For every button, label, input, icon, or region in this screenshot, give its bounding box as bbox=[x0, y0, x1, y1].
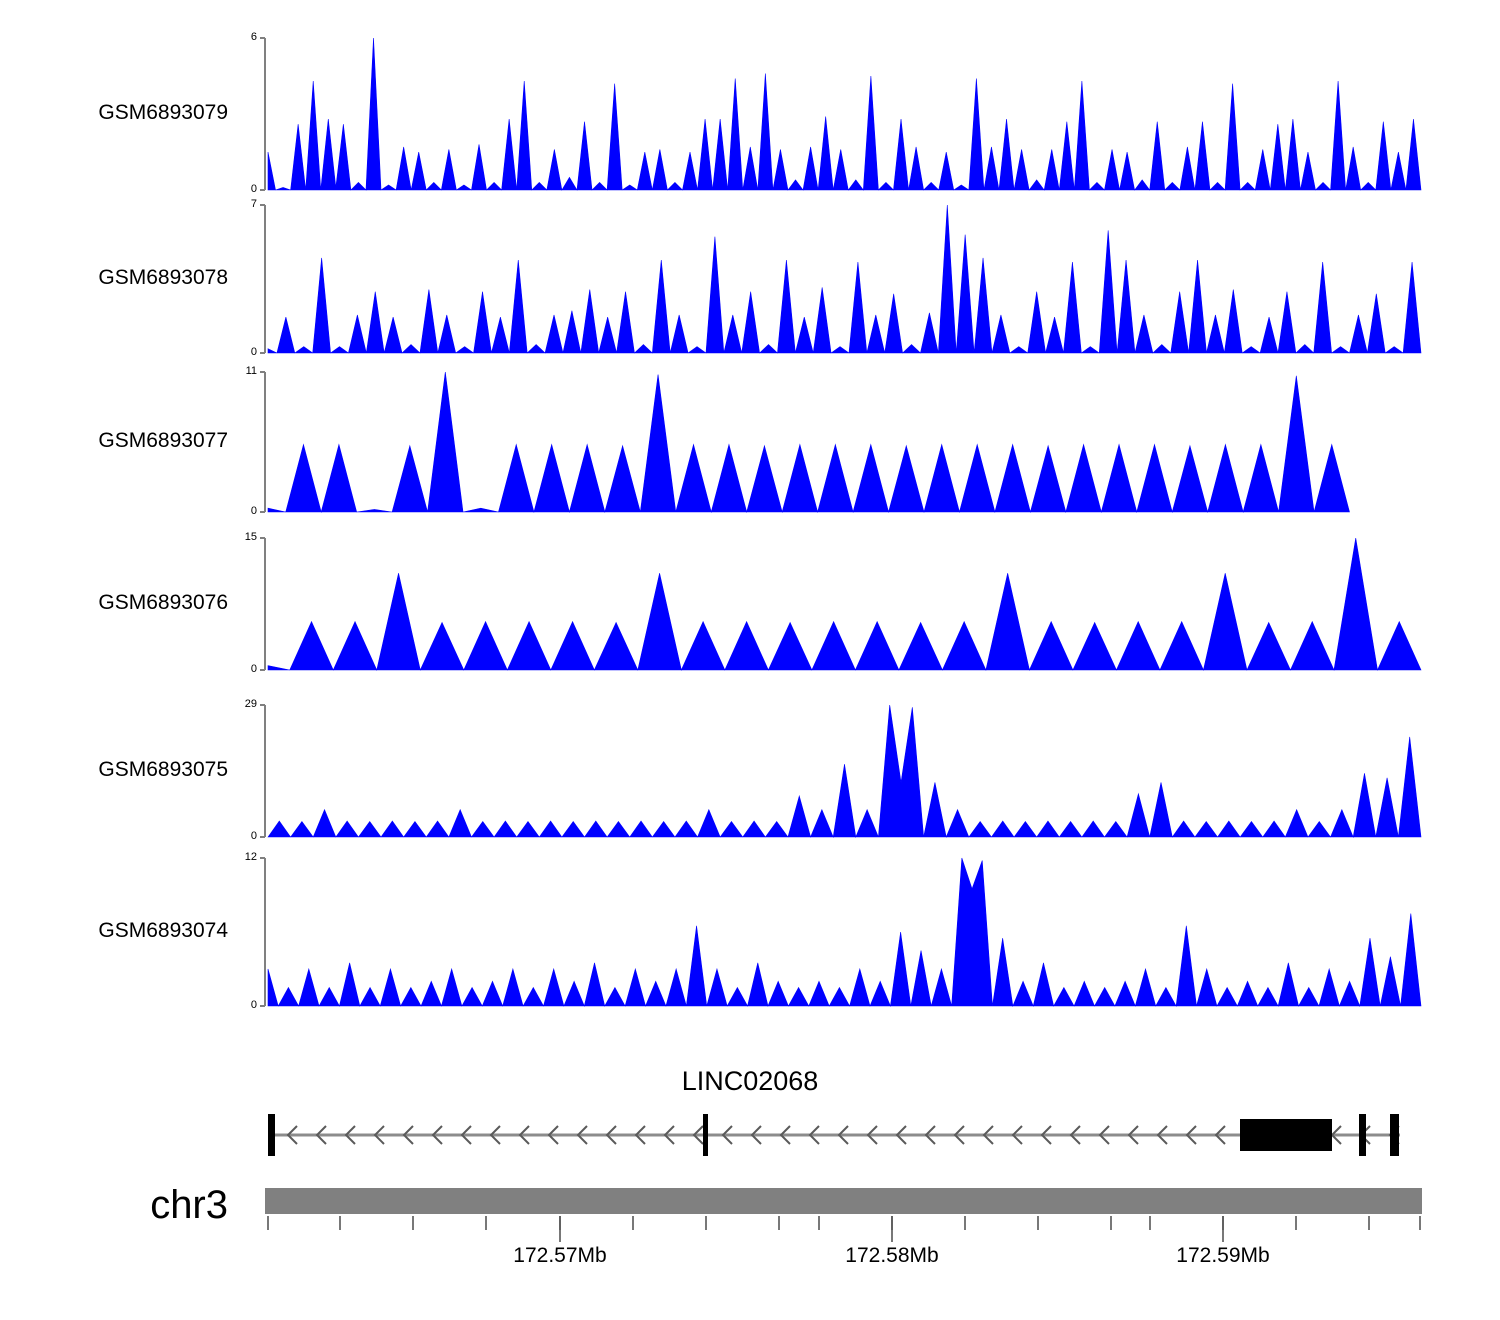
track-sample-label: GSM6893078 bbox=[0, 267, 228, 288]
coverage-area bbox=[268, 38, 1421, 190]
gene-exon-exon-thin-2[interactable] bbox=[1390, 1114, 1399, 1156]
y-axis-min-label: 0 bbox=[225, 184, 257, 195]
y-axis-max-label: 7 bbox=[225, 199, 257, 210]
coverage-area bbox=[268, 705, 1421, 837]
track-sample-label: GSM6893074 bbox=[0, 920, 228, 941]
axis-tick-label: 172.59Mb bbox=[1176, 1245, 1269, 1266]
y-axis-max-label: 15 bbox=[225, 532, 257, 543]
coverage-area bbox=[268, 538, 1421, 670]
axis-tick-label: 172.57Mb bbox=[513, 1245, 606, 1266]
y-axis-max-label: 12 bbox=[225, 852, 257, 863]
y-axis-max-label: 11 bbox=[225, 366, 257, 377]
ideogram-bar[interactable] bbox=[265, 1188, 1422, 1214]
coverage-area bbox=[268, 205, 1421, 353]
gene-model-svg[interactable] bbox=[0, 1100, 1500, 1180]
coverage-area bbox=[268, 372, 1350, 512]
y-axis-min-label: 0 bbox=[225, 664, 257, 675]
y-axis-min-label: 0 bbox=[225, 1000, 257, 1011]
y-axis-max-label: 29 bbox=[225, 699, 257, 710]
track-sample-label: GSM6893079 bbox=[0, 102, 228, 123]
genome-browser-view: GSM689307960GSM689307870GSM6893077110GSM… bbox=[0, 0, 1500, 1320]
coverage-area bbox=[268, 858, 1421, 1006]
y-axis-min-label: 0 bbox=[225, 347, 257, 358]
gene-name-label: LINC02068 bbox=[0, 1068, 1500, 1095]
gene-exon-exon-middle[interactable] bbox=[703, 1114, 708, 1156]
track-sample-label: GSM6893076 bbox=[0, 592, 228, 613]
track-sample-label: GSM6893075 bbox=[0, 759, 228, 780]
y-axis-min-label: 0 bbox=[225, 831, 257, 842]
y-axis-min-label: 0 bbox=[225, 506, 257, 517]
gene-exon-exon-large[interactable] bbox=[1240, 1119, 1332, 1151]
gene-exon-exon-thin-1[interactable] bbox=[1359, 1114, 1366, 1156]
y-axis-max-label: 6 bbox=[225, 32, 257, 43]
gene-exon-exon-left-terminal[interactable] bbox=[268, 1114, 275, 1156]
track-sample-label: GSM6893077 bbox=[0, 430, 228, 451]
axis-tick-label: 172.58Mb bbox=[845, 1245, 938, 1266]
ideogram-axis-svg[interactable] bbox=[0, 1186, 1500, 1246]
